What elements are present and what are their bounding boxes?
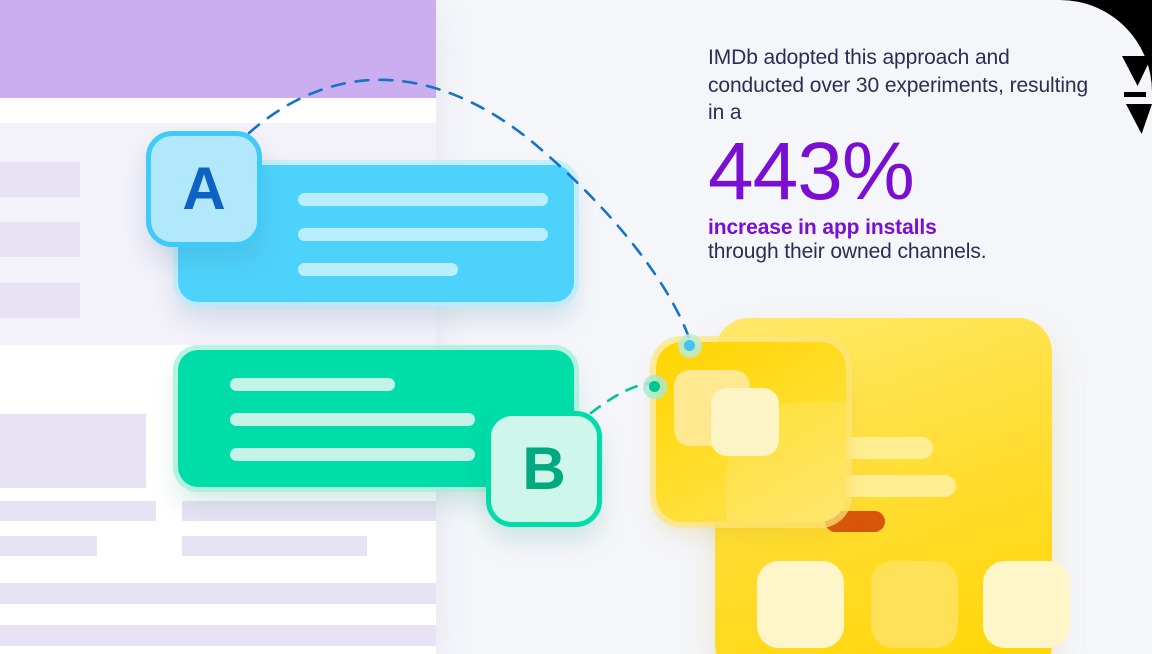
document-placeholder-bar bbox=[182, 536, 367, 556]
card-text-bar bbox=[230, 378, 395, 391]
illustration-stage: A B IMDb adopted this approach and condu… bbox=[0, 0, 1152, 654]
document-placeholder-block bbox=[0, 414, 146, 488]
callout-subtitle: through their owned channels. bbox=[708, 240, 1092, 264]
document-placeholder-bar bbox=[0, 536, 97, 556]
document-placeholder-bar bbox=[0, 162, 80, 197]
edge-glyph-fragment-middle bbox=[1124, 92, 1146, 97]
card-text-bar bbox=[230, 413, 475, 426]
document-placeholder-bar bbox=[0, 583, 436, 604]
variant-a-badge[interactable]: A bbox=[146, 131, 262, 247]
card-text-bar bbox=[298, 228, 548, 241]
connector-a-dot bbox=[684, 340, 695, 351]
callout-stat: 443% bbox=[708, 129, 1092, 214]
callout-subtitle-strong: increase in app installs bbox=[708, 216, 1092, 240]
document-placeholder-bar bbox=[182, 501, 436, 521]
card-text-bar bbox=[230, 448, 475, 461]
document-header-bar bbox=[0, 0, 436, 98]
callout-lede: IMDb adopted this approach and conducted… bbox=[708, 44, 1092, 127]
variant-b-badge[interactable]: B bbox=[486, 411, 602, 527]
document-placeholder-bar bbox=[0, 625, 436, 646]
app-media-card[interactable] bbox=[656, 342, 846, 522]
document-placeholder-bar bbox=[0, 283, 80, 318]
document-mockup bbox=[0, 0, 436, 654]
app-card-tile[interactable] bbox=[757, 561, 844, 648]
app-card-tile[interactable] bbox=[983, 561, 1070, 648]
card-text-bar bbox=[298, 193, 548, 206]
card-text-bar bbox=[298, 263, 458, 276]
connector-b-dot bbox=[649, 381, 660, 392]
media-thumbnail-front bbox=[711, 388, 779, 456]
callout-copy: IMDb adopted this approach and conducted… bbox=[708, 44, 1092, 264]
document-placeholder-bar bbox=[0, 501, 156, 521]
variant-b-badge-label: B bbox=[522, 439, 565, 499]
document-placeholder-bar bbox=[0, 222, 80, 257]
app-card-tile[interactable] bbox=[871, 561, 958, 648]
variant-a-badge-label: A bbox=[182, 159, 225, 219]
